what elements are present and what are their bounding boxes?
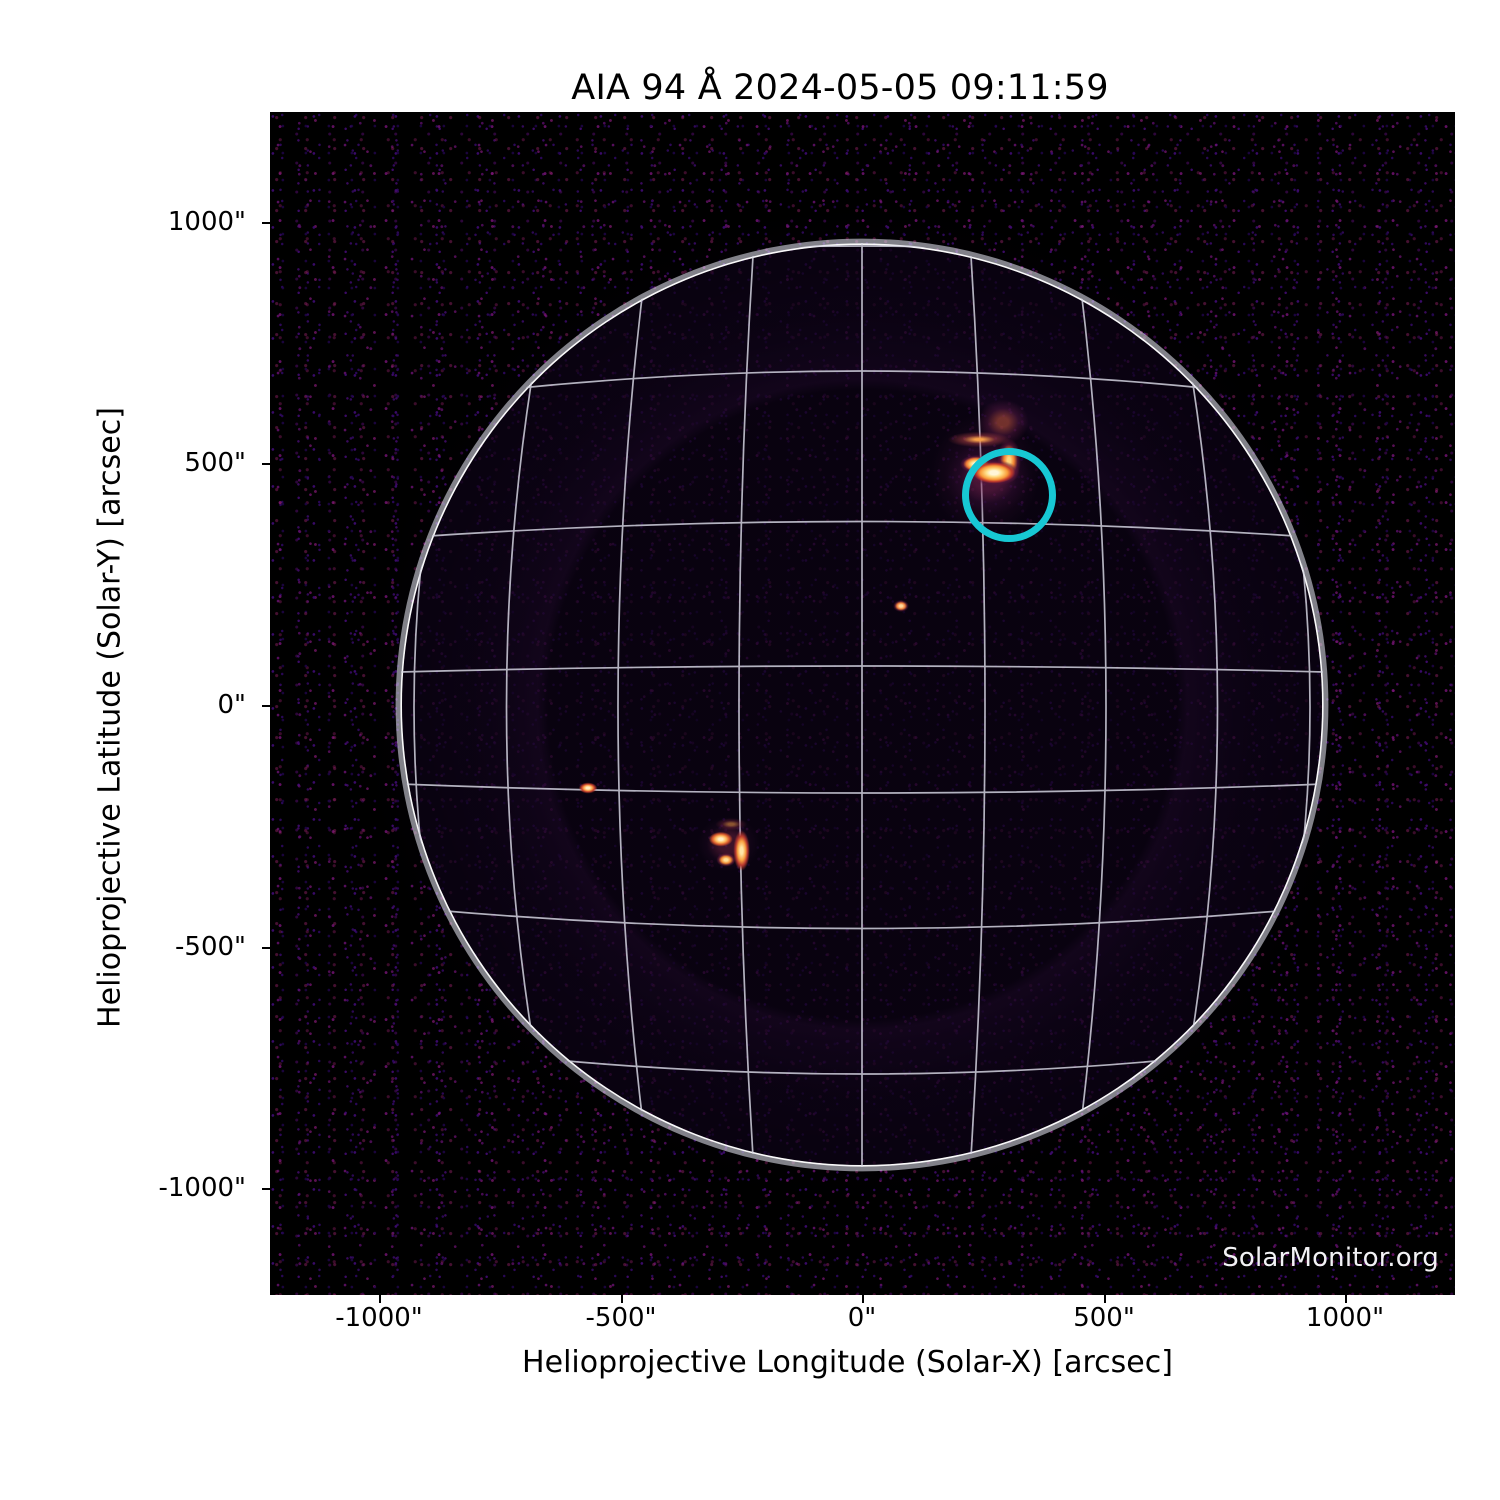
y-axis-label: Helioprojective Latitude (Solar-Y) [arcs… <box>93 218 128 1218</box>
x-axis-label: Helioprojective Longitude (Solar-X) [arc… <box>0 1345 1500 1380</box>
x-tick-label-500: 500" <box>1004 1305 1204 1331</box>
watermark-label: SolarMonitor.org <box>1222 1243 1439 1273</box>
x-tick-label-1000: 1000" <box>1245 1305 1445 1331</box>
x-tick-mark <box>1345 1295 1347 1303</box>
figure-title: AIA 94 Å 2024-05-05 09:11:59 <box>0 68 1500 108</box>
x-tick-mark <box>379 1295 381 1303</box>
y-tick-mark <box>262 705 270 707</box>
x-tick-label-m500: -500" <box>521 1305 721 1331</box>
y-tick-mark <box>262 947 270 949</box>
x-tick-label-m1000: -1000" <box>279 1305 479 1331</box>
active-region-annotation-circle[interactable] <box>962 448 1056 542</box>
x-tick-mark <box>862 1295 864 1303</box>
x-axis-label-text: Helioprojective Longitude (Solar-X) [arc… <box>327 1345 1173 1380</box>
x-tick-mark <box>1104 1295 1106 1303</box>
x-tick-label-0: 0" <box>762 1305 962 1331</box>
solar-image-plot-area[interactable]: SolarMonitor.org <box>270 112 1455 1295</box>
heliographic-grid <box>270 112 1455 1295</box>
y-tick-mark <box>262 1188 270 1190</box>
x-tick-mark <box>621 1295 623 1303</box>
y-tick-mark <box>262 222 270 224</box>
solar-image-figure: AIA 94 Å 2024-05-05 09:11:59 1000" 500" … <box>0 0 1500 1500</box>
y-tick-mark <box>262 463 270 465</box>
figure-title-text: AIA 94 Å 2024-05-05 09:11:59 <box>391 68 1108 108</box>
